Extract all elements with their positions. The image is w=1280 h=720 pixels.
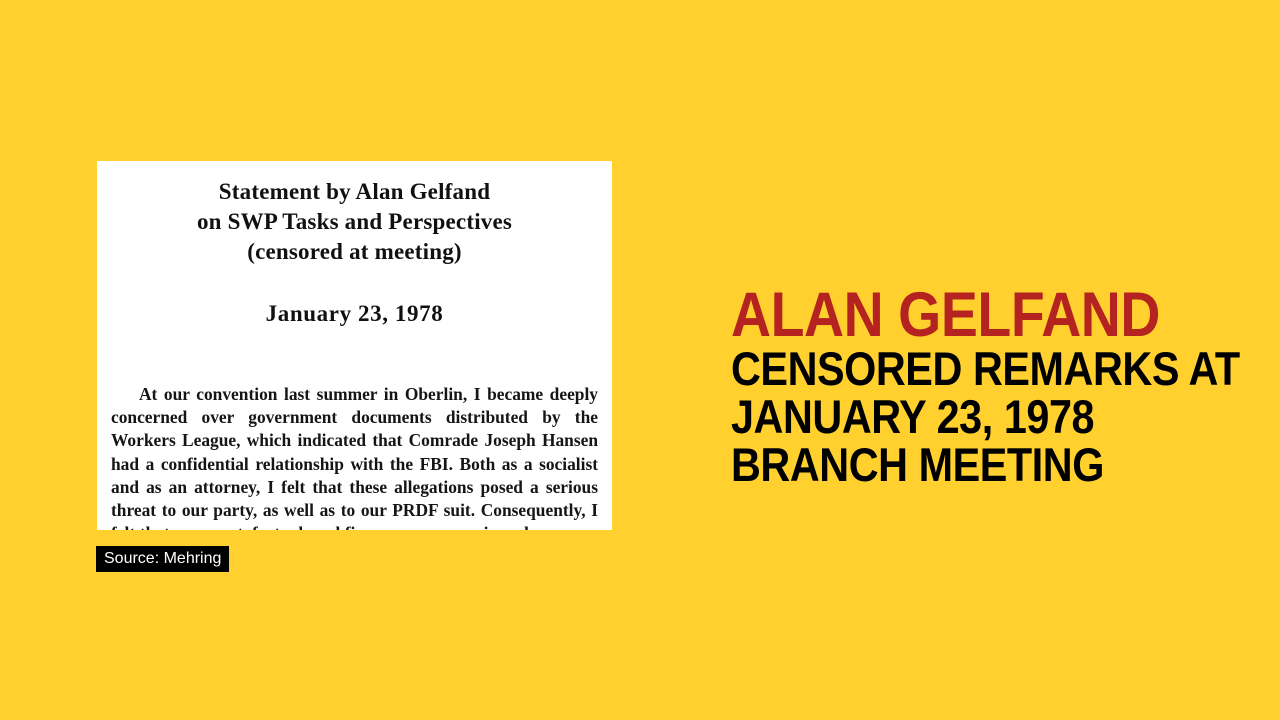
title-subtitle-line-2: JANUARY 23, 1978 [731,393,1153,441]
title-subtitle-line-1: CENSORED REMARKS AT [731,345,1153,393]
document-heading-block: Statement by Alan Gelfand on SWP Tasks a… [97,161,612,267]
source-badge-label: Source: Mehring [104,551,221,567]
document-date: January 23, 1978 [97,267,612,329]
document-heading-line-1: Statement by Alan Gelfand [97,177,612,207]
title-subtitle-line-3: BRANCH MEETING [731,441,1153,489]
document-body-paragraph: At our convention last summer in Oberlin… [97,329,612,530]
title-block: ALAN GELFAND CENSORED REMARKS AT JANUARY… [731,286,1211,489]
title-name: ALAN GELFAND [731,286,1153,345]
source-badge: Source: Mehring [96,546,229,572]
document-heading-line-2: on SWP Tasks and Perspectives [97,207,612,237]
document-card: Statement by Alan Gelfand on SWP Tasks a… [97,161,612,530]
document-heading-line-3: (censored at meeting) [97,237,612,267]
